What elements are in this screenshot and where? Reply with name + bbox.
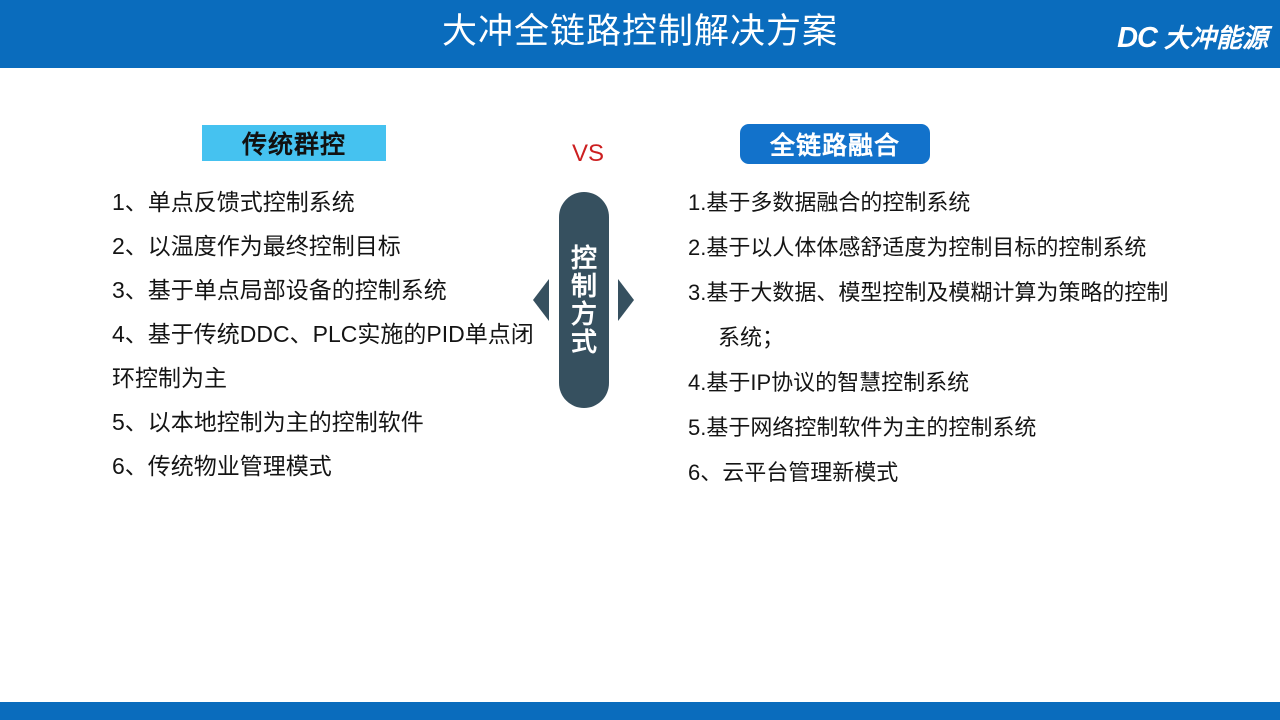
list-item: 1.基于多数据融合的控制系统	[688, 180, 1268, 225]
right-column-heading: 全链路融合	[740, 124, 930, 164]
brand-logo-mark: DC	[1117, 22, 1157, 55]
footer-bar	[0, 702, 1280, 720]
arrow-right-icon	[618, 279, 634, 321]
center-pill-char: 方	[571, 300, 597, 328]
arrow-left-icon	[533, 279, 549, 321]
list-item: 4.基于IP协议的智慧控制系统	[688, 360, 1268, 405]
left-column-heading: 传统群控	[202, 125, 386, 161]
vs-label: VS	[560, 140, 616, 168]
center-pill-label: 控 制 方 式	[559, 192, 609, 408]
list-item: 1、单点反馈式控制系统	[112, 180, 542, 224]
list-item: 5.基于网络控制软件为主的控制系统	[688, 405, 1268, 450]
list-item: 6、云平台管理新模式	[688, 450, 1268, 495]
center-pill-char: 控	[571, 244, 597, 272]
list-item: 6、传统物业管理模式	[112, 444, 542, 488]
brand-logo: DC 大冲能源	[1117, 18, 1268, 55]
list-item: 4、基于传统DDC、PLC实施的PID单点闭环控制为主	[112, 312, 542, 400]
list-item: 3、基于单点局部设备的控制系统	[112, 268, 542, 312]
list-item-continuation: 系统；	[688, 315, 1268, 360]
page-title: 大冲全链路控制解决方案	[0, 7, 1280, 57]
list-item: 5、以本地控制为主的控制软件	[112, 400, 542, 444]
list-item: 3.基于大数据、模型控制及模糊计算为策略的控制	[688, 270, 1268, 315]
list-item: 2、以温度作为最终控制目标	[112, 224, 542, 268]
list-item: 2.基于以人体体感舒适度为控制目标的控制系统	[688, 225, 1268, 270]
center-pill-char: 式	[571, 328, 597, 356]
list-item-continuation-text: 系统；	[688, 315, 1268, 360]
left-column-list: 1、单点反馈式控制系统 2、以温度作为最终控制目标 3、基于单点局部设备的控制系…	[112, 180, 542, 488]
center-pill-char: 制	[571, 272, 597, 300]
brand-logo-name: 大冲能源	[1164, 18, 1268, 55]
right-column-list: 1.基于多数据融合的控制系统 2.基于以人体体感舒适度为控制目标的控制系统 3.…	[688, 180, 1268, 495]
